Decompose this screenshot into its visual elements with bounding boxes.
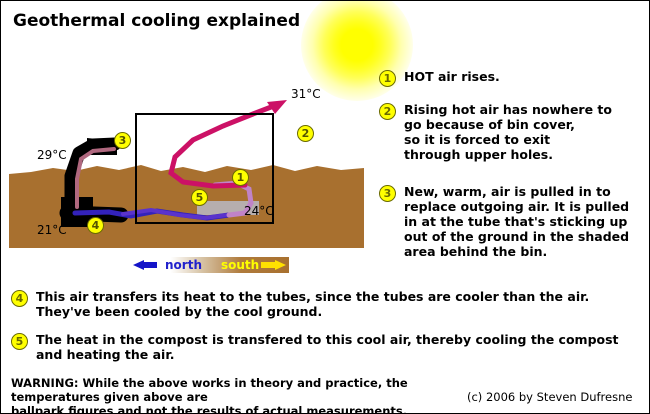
compass-north-label: north [165,257,202,273]
temperature-label-ground: 21°C [37,223,67,237]
compass-legend: north south [129,257,289,273]
note-marker-1: 1 [379,70,396,87]
diagram-marker-3[interactable]: 3 [114,132,131,149]
note-marker-4: 4 [11,290,28,307]
note-item-2: 2 Rising hot air has nowhere to go becau… [379,102,641,162]
diagram-svg [1,1,381,291]
copyright-text: (c) 2006 by Steven Dufresne [467,390,632,404]
note-text-4: This air transfers its heat to the tubes… [36,289,641,319]
geothermal-diagram: 31°C 29°C 21°C 24°C 1 2 3 4 5 north sout… [1,1,381,291]
diagram-marker-5[interactable]: 5 [191,189,208,206]
arrow-east-icon [275,260,286,270]
temperature-label-exhaust: 31°C [291,87,321,101]
note-item-1: 1 HOT air rises. [379,69,641,84]
note-text-5: The heat in the compost is transfered to… [36,332,641,362]
infographic-page: Geothermal cooling explained [0,0,650,414]
compass-south-label: south [221,257,259,273]
warning-text: WARNING: While the above works in theory… [11,376,481,414]
note-text-2: Rising hot air has nowhere to go because… [404,102,641,162]
diagram-marker-1[interactable]: 1 [232,169,249,186]
note-text-1: HOT air rises. [404,69,641,84]
note-item-4: 4 This air transfers its heat to the tub… [11,289,641,319]
note-marker-3: 3 [379,185,396,202]
diagram-marker-4[interactable]: 4 [87,217,104,234]
temperature-label-bin: 24°C [244,204,274,218]
note-marker-5: 5 [11,333,28,350]
note-marker-2: 2 [379,103,396,120]
arrow-east-tail-icon [261,262,276,268]
temperature-label-intake: 29°C [37,148,67,162]
note-text-3: New, warm, air is pulled in to replace o… [404,184,641,259]
note-item-3: 3 New, warm, air is pulled in to replace… [379,184,641,259]
arrow-west-tail-icon [143,262,157,268]
diagram-marker-2[interactable]: 2 [297,125,314,142]
note-item-5: 5 The heat in the compost is transfered … [11,332,641,362]
